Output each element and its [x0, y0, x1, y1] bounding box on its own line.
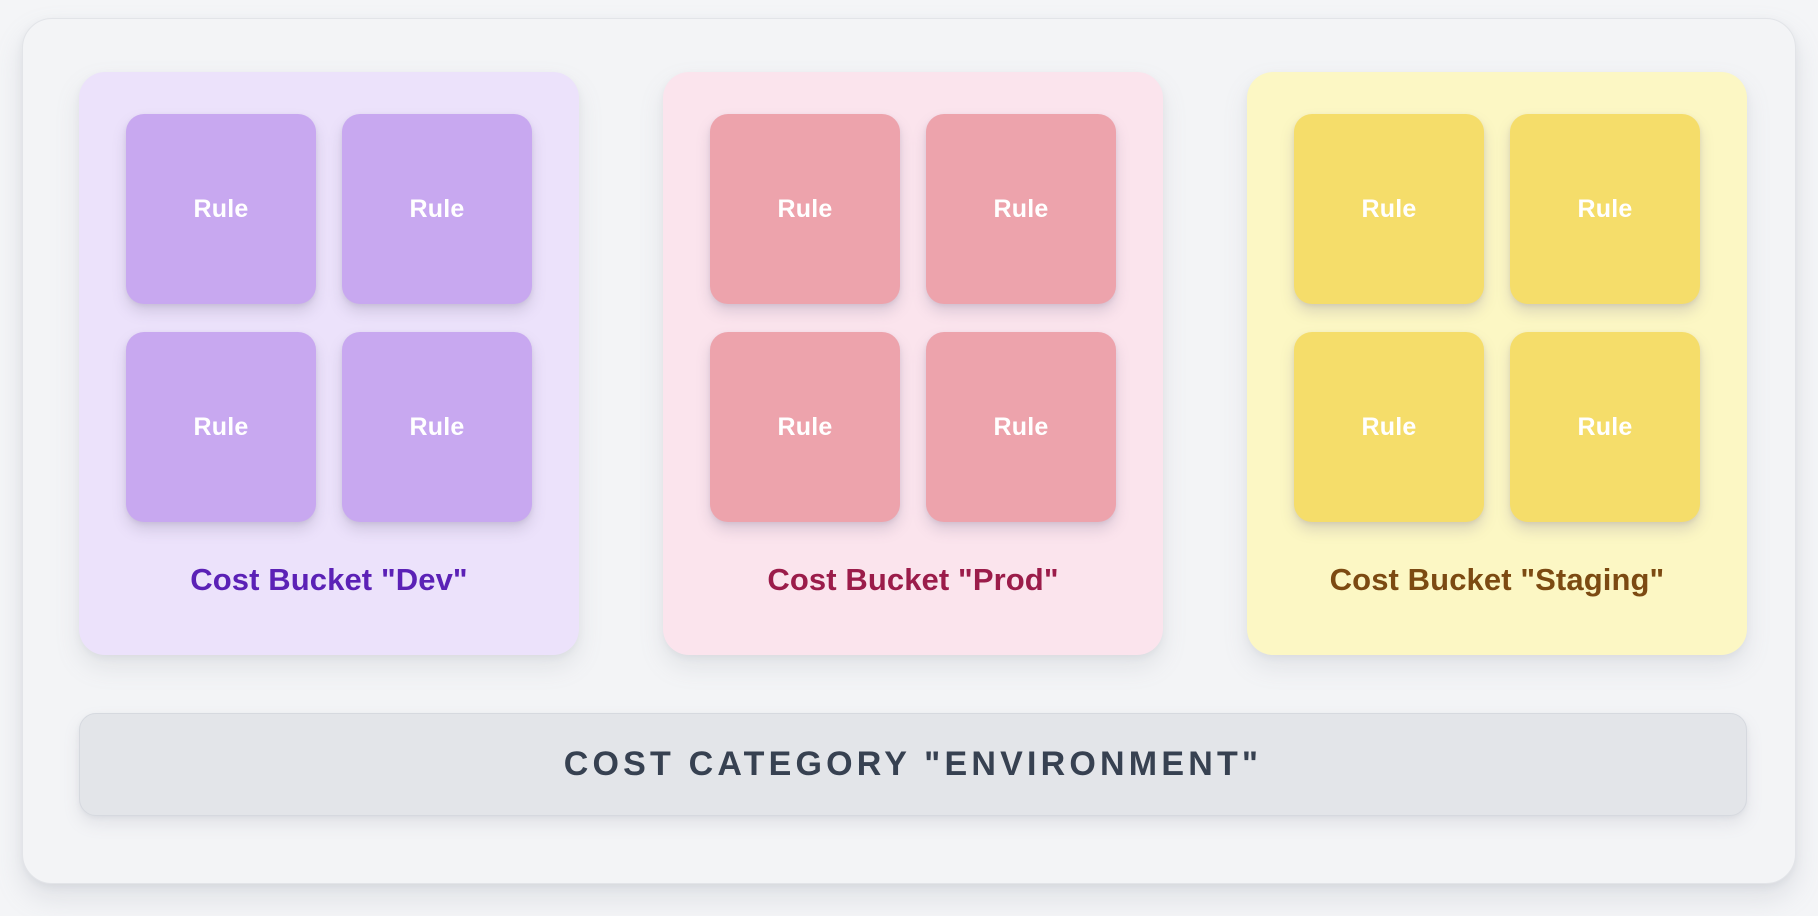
cost-bucket-staging[interactable]: Rule Rule Rule Rule Cost Bucket "Staging… — [1247, 72, 1747, 655]
rule-card[interactable]: Rule — [1510, 114, 1700, 304]
rules-grid-dev: Rule Rule Rule Rule — [126, 114, 532, 522]
cost-bucket-dev[interactable]: Rule Rule Rule Rule Cost Bucket "Dev" — [79, 72, 579, 655]
cost-bucket-label: Cost Bucket "Prod" — [767, 562, 1058, 598]
cost-bucket-prod[interactable]: Rule Rule Rule Rule Cost Bucket "Prod" — [663, 72, 1163, 655]
rule-card[interactable]: Rule — [342, 114, 532, 304]
cost-bucket-label: Cost Bucket "Dev" — [190, 562, 467, 598]
diagram-canvas: Rule Rule Rule Rule Cost Bucket "Dev" Ru… — [0, 0, 1818, 916]
rules-grid-staging: Rule Rule Rule Rule — [1294, 114, 1700, 522]
rule-card[interactable]: Rule — [1510, 332, 1700, 522]
rule-card[interactable]: Rule — [926, 332, 1116, 522]
rule-card[interactable]: Rule — [710, 332, 900, 522]
cost-category-banner[interactable]: COST CATEGORY "ENVIRONMENT" — [79, 713, 1747, 816]
rule-card[interactable]: Rule — [1294, 114, 1484, 304]
rules-grid-prod: Rule Rule Rule Rule — [710, 114, 1116, 522]
rule-card[interactable]: Rule — [126, 332, 316, 522]
rule-card[interactable]: Rule — [710, 114, 900, 304]
rule-card[interactable]: Rule — [126, 114, 316, 304]
cost-bucket-label: Cost Bucket "Staging" — [1330, 562, 1665, 598]
cost-category-panel: Rule Rule Rule Rule Cost Bucket "Dev" Ru… — [22, 18, 1796, 884]
rule-card[interactable]: Rule — [342, 332, 532, 522]
rule-card[interactable]: Rule — [1294, 332, 1484, 522]
cost-category-label: COST CATEGORY "ENVIRONMENT" — [564, 745, 1263, 784]
rule-card[interactable]: Rule — [926, 114, 1116, 304]
cost-bucket-row: Rule Rule Rule Rule Cost Bucket "Dev" Ru… — [79, 72, 1747, 659]
